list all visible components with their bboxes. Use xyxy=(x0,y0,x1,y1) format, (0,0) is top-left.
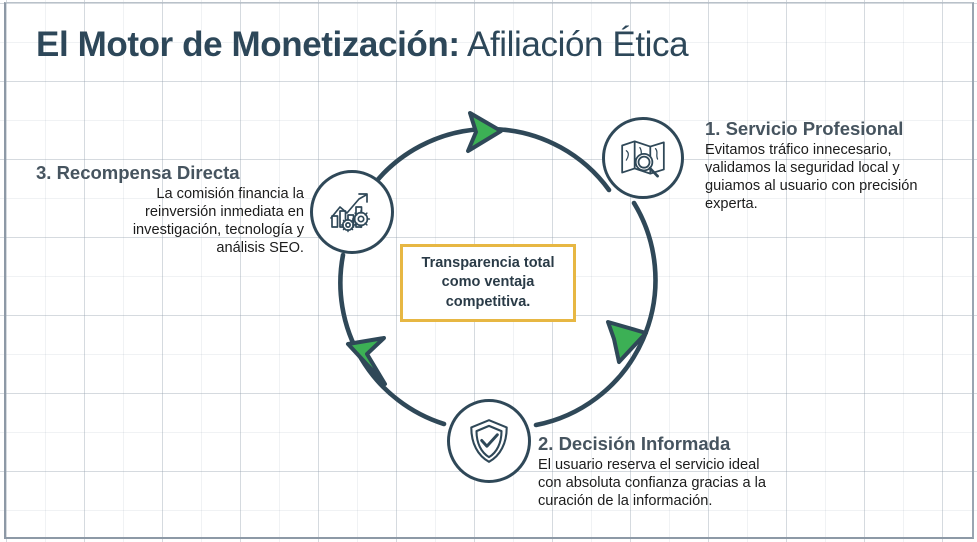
block-servicio-body: Evitamos tráfico innecesario, validamos … xyxy=(705,142,951,214)
slide-canvas: El Motor de Monetización: Afiliación Éti… xyxy=(0,0,977,542)
center-callout-text: Transparencia total como ventaja competi… xyxy=(416,254,561,311)
node-service-professional[interactable] xyxy=(602,117,684,199)
arrow-right xyxy=(608,322,646,362)
page-title-strong: El Motor de Monetización: xyxy=(36,25,460,64)
block-decision-informada: 2. Decisión Informada El usuario reserva… xyxy=(538,433,810,511)
center-callout: Transparencia total como ventaja competi… xyxy=(400,244,576,322)
node-decision-informada[interactable] xyxy=(447,399,531,483)
block-recompensa-directa: 3. Recompensa Directa La comisión financ… xyxy=(36,162,304,258)
map-magnifier-icon xyxy=(618,133,668,183)
block-decision-heading: 2. Decisión Informada xyxy=(538,433,810,455)
block-servicio-heading: 1. Servicio Profesional xyxy=(705,118,951,140)
arrow-left xyxy=(348,338,385,384)
block-recompensa-heading: 3. Recompensa Directa xyxy=(36,162,304,184)
block-recompensa-body: La comisión financia la reinversión inme… xyxy=(36,186,304,258)
page-title-light: Afiliación Ética xyxy=(460,25,689,64)
growth-chart-gears-icon xyxy=(326,186,378,238)
block-servicio-profesional: 1. Servicio Profesional Evitamos tráfico… xyxy=(705,118,951,214)
node-recompensa-directa[interactable] xyxy=(310,170,394,254)
block-decision-body: El usuario reserva el servicio ideal con… xyxy=(538,457,810,511)
page-title: El Motor de Monetización: Afiliación Éti… xyxy=(36,25,688,65)
shield-check-icon xyxy=(464,416,514,466)
